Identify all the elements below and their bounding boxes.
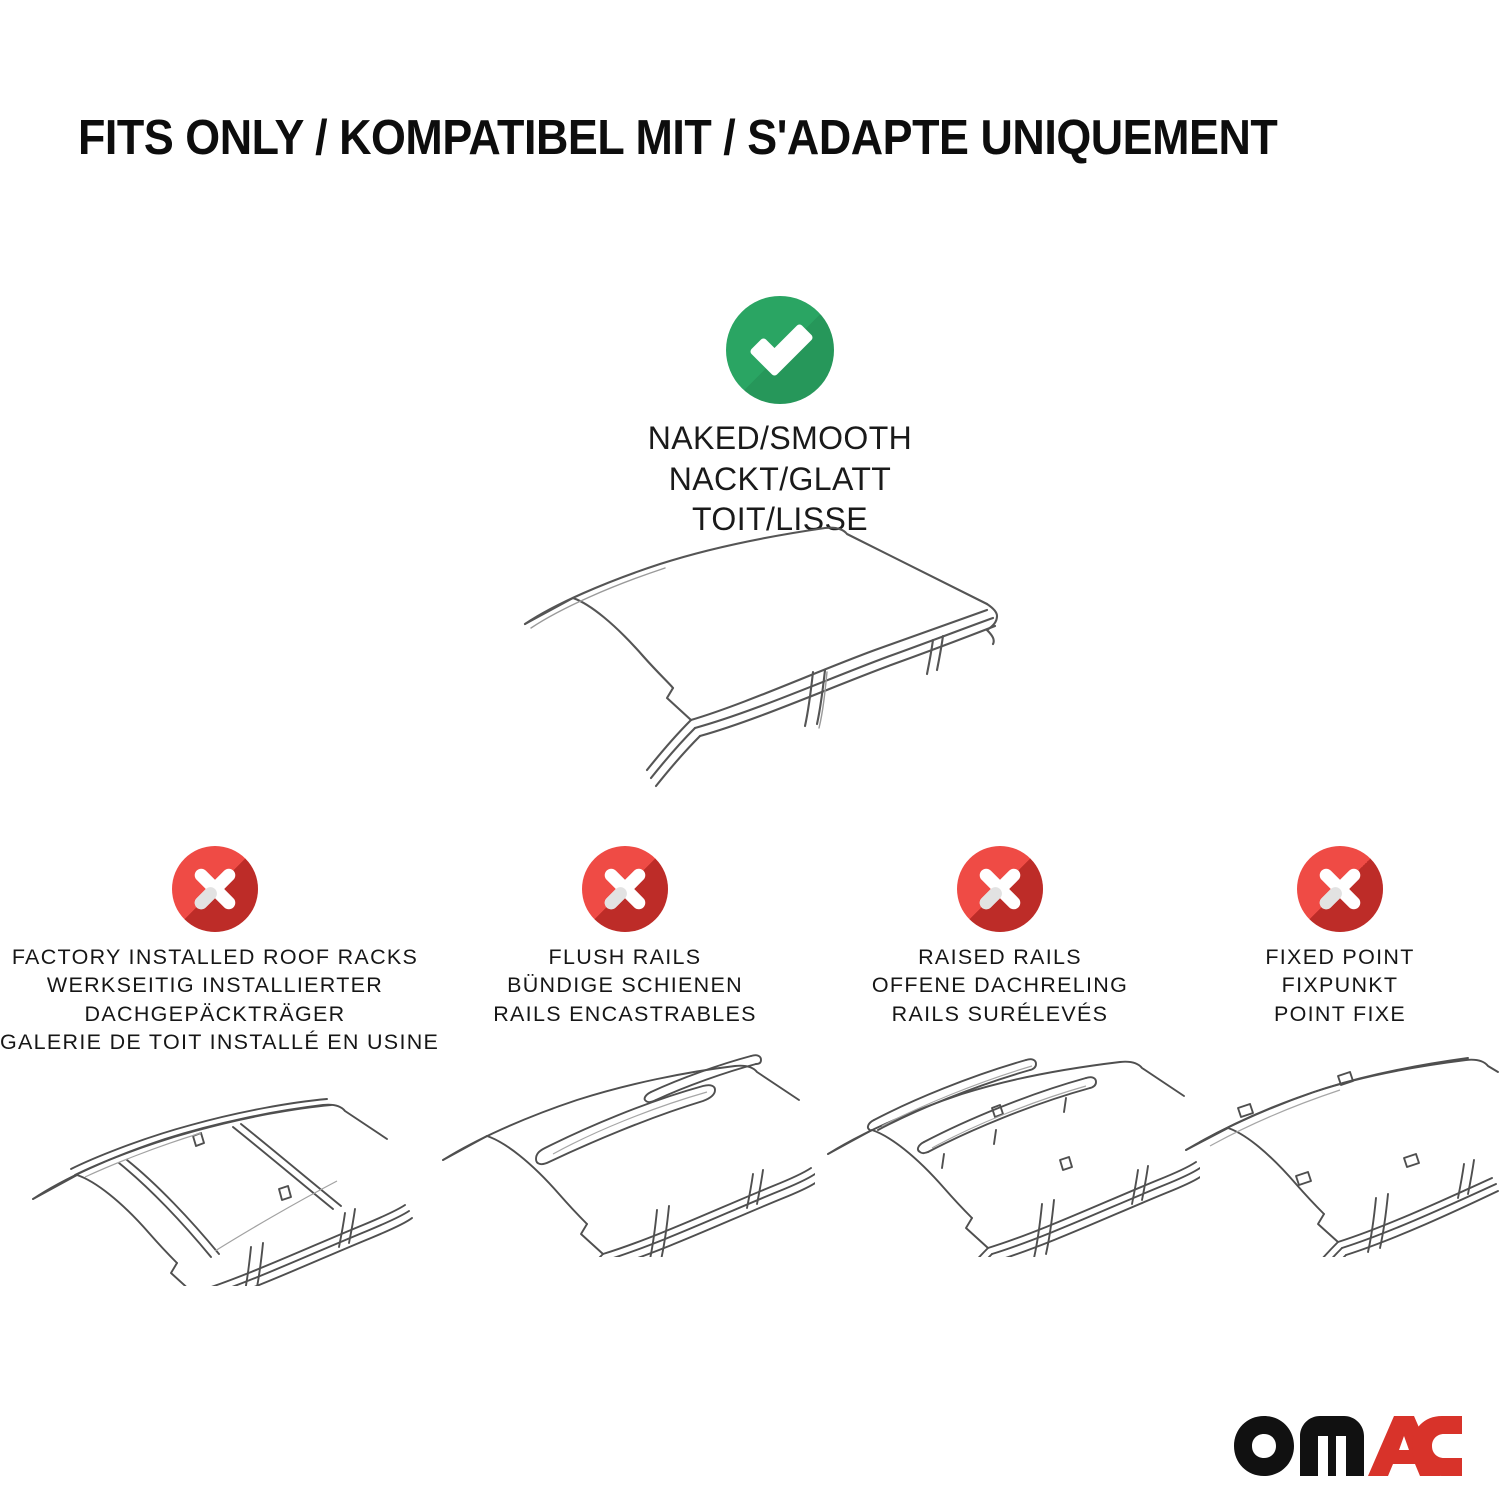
compatible-label-en: NAKED/SMOOTH xyxy=(430,418,1130,459)
label-fr: RAILS ENCASTRABLES xyxy=(430,1000,820,1028)
omac-logo xyxy=(1232,1414,1464,1478)
logo-letter-m xyxy=(1300,1416,1364,1476)
label-fr: RAILS SURÉLEVÉS xyxy=(820,1000,1180,1028)
cross-circle-icon xyxy=(1297,846,1383,932)
label-en: FACTORY INSTALLED ROOF RACKS xyxy=(0,943,430,971)
compatible-section: NAKED/SMOOTH NACKT/GLATT TOIT/LISSE xyxy=(430,296,1130,540)
cross-glyph xyxy=(1297,846,1383,932)
not-compatible-item-flush-rails: FLUSH RAILS BÜNDIGE SCHIENEN RAILS ENCAS… xyxy=(430,846,820,1281)
logo-letter-o xyxy=(1234,1416,1294,1476)
cross-circle-icon xyxy=(172,846,258,932)
fixed-point-illustration xyxy=(1180,1042,1500,1252)
cross-glyph xyxy=(582,846,668,932)
label-de-line1: WERKSEITIG INSTALLIERTER xyxy=(0,971,430,999)
label-de: FIXPUNKT xyxy=(1180,971,1500,999)
label-de: BÜNDIGE SCHIENEN xyxy=(430,971,820,999)
checkmark-glyph xyxy=(726,296,834,404)
page-title: FITS ONLY / KOMPATIBEL MIT / S'ADAPTE UN… xyxy=(78,112,1277,165)
label-en: FIXED POINT xyxy=(1180,943,1500,971)
not-compatible-item-factory-roof-racks: FACTORY INSTALLED ROOF RACKS WERKSEITIG … xyxy=(0,846,430,1281)
smooth-roof-illustration xyxy=(495,512,1035,802)
not-compatible-labels: FLUSH RAILS BÜNDIGE SCHIENEN RAILS ENCAS… xyxy=(430,943,820,1028)
factory-roof-rack-illustration xyxy=(0,1071,430,1281)
not-compatible-labels: RAISED RAILS OFFENE DACHRELING RAILS SUR… xyxy=(820,943,1180,1028)
cross-glyph xyxy=(172,846,258,932)
raised-rails-illustration xyxy=(820,1042,1180,1252)
label-en: RAISED RAILS xyxy=(820,943,1180,971)
not-compatible-labels: FIXED POINT FIXPUNKT POINT FIXE xyxy=(1180,943,1500,1028)
not-compatible-item-raised-rails: RAISED RAILS OFFENE DACHRELING RAILS SUR… xyxy=(820,846,1180,1281)
compatible-label-de: NACKT/GLATT xyxy=(430,459,1130,500)
label-fr: POINT FIXE xyxy=(1180,1000,1500,1028)
check-circle-icon xyxy=(726,296,834,404)
not-compatible-section: FACTORY INSTALLED ROOF RACKS WERKSEITIG … xyxy=(0,846,1500,1281)
cross-glyph xyxy=(957,846,1043,932)
label-de-line2: DACHGEPÄCKTRÄGER xyxy=(0,1000,430,1028)
label-en: FLUSH RAILS xyxy=(430,943,820,971)
label-fr: GALERIE DE TOIT INSTALLÉ EN USINE xyxy=(0,1028,430,1056)
cross-circle-icon xyxy=(957,846,1043,932)
flush-rails-illustration xyxy=(430,1042,820,1252)
not-compatible-labels: FACTORY INSTALLED ROOF RACKS WERKSEITIG … xyxy=(0,943,430,1057)
not-compatible-item-fixed-point: FIXED POINT FIXPUNKT POINT FIXE xyxy=(1180,846,1500,1281)
label-de: OFFENE DACHRELING xyxy=(820,971,1180,999)
cross-circle-icon xyxy=(582,846,668,932)
